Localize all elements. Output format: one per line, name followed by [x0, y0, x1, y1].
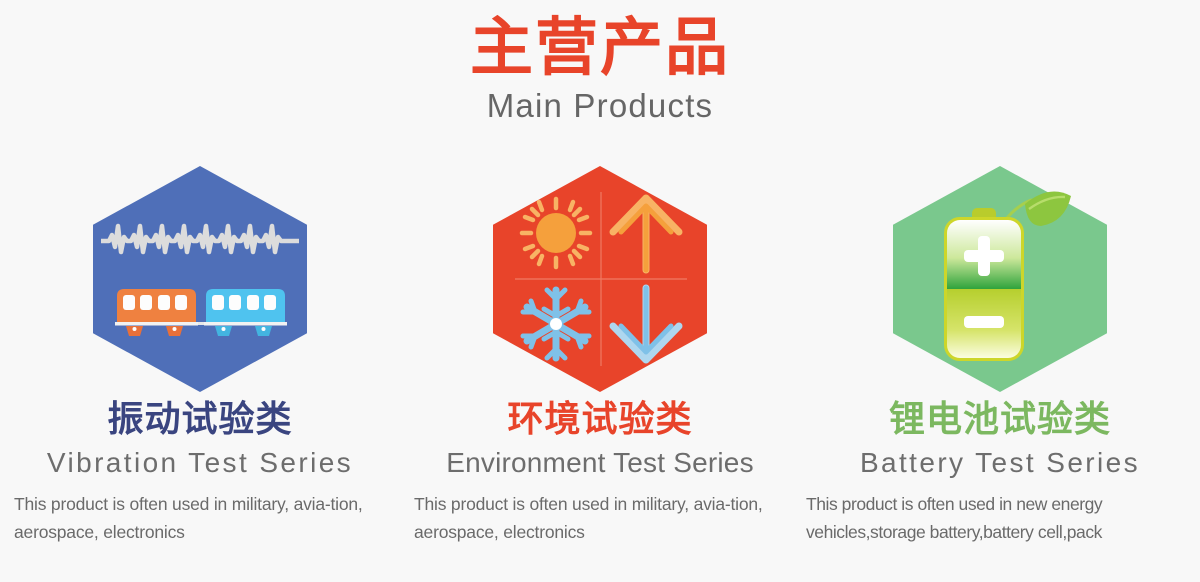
product-title-cn: 环境试验类 [400, 396, 800, 441]
leaf-icon [1025, 192, 1071, 227]
product-title-en: Battery Test Series [800, 445, 1200, 481]
product-columns: 振动试验类 Vibration Test Series This product… [0, 160, 1200, 582]
caption-vibration: 振动试验类 Vibration Test Series This product… [0, 396, 400, 546]
caption-environment: 环境试验类 Environment Test Series This produ… [400, 396, 800, 546]
product-card-environment[interactable]: 环境试验类 Environment Test Series This produ… [400, 160, 800, 582]
product-title-en: Vibration Test Series [0, 445, 400, 481]
sun-icon [522, 199, 590, 267]
train-car-orange-icon [115, 289, 198, 336]
vibration-test-hexagon-icon[interactable] [93, 166, 307, 392]
environment-test-hexagon-icon[interactable] [493, 166, 707, 392]
train-car-blue-icon [204, 289, 287, 336]
product-description: This product is often used in military, … [0, 491, 400, 545]
product-title-en: Environment Test Series [400, 445, 800, 481]
arrow-up-icon [613, 198, 679, 270]
main-products-section: 主营产品 Main Products [0, 0, 1200, 582]
product-title-cn: 振动试验类 [0, 396, 400, 441]
section-header: 主营产品 Main Products [0, 0, 1200, 126]
page-title-en: Main Products [0, 86, 1200, 126]
waveform-icon [101, 214, 299, 262]
caption-battery: 锂电池试验类 Battery Test Series This product … [800, 396, 1200, 546]
minus-icon [964, 316, 1004, 328]
arrow-down-icon [613, 288, 679, 360]
battery-leaf-icon [925, 188, 1077, 370]
page-title-cn: 主营产品 [0, 14, 1200, 82]
product-description: This product is often used in military, … [400, 491, 800, 545]
product-card-vibration[interactable]: 振动试验类 Vibration Test Series This product… [0, 160, 400, 582]
weather-grid-icons [511, 186, 691, 372]
product-title-cn: 锂电池试验类 [800, 396, 1200, 441]
train-icons [113, 278, 289, 340]
product-card-battery[interactable]: 锂电池试验类 Battery Test Series This product … [800, 160, 1200, 582]
snowflake-icon [523, 290, 589, 358]
product-description: This product is often used in new energy… [800, 491, 1200, 545]
battery-test-hexagon-icon[interactable] [893, 166, 1107, 392]
